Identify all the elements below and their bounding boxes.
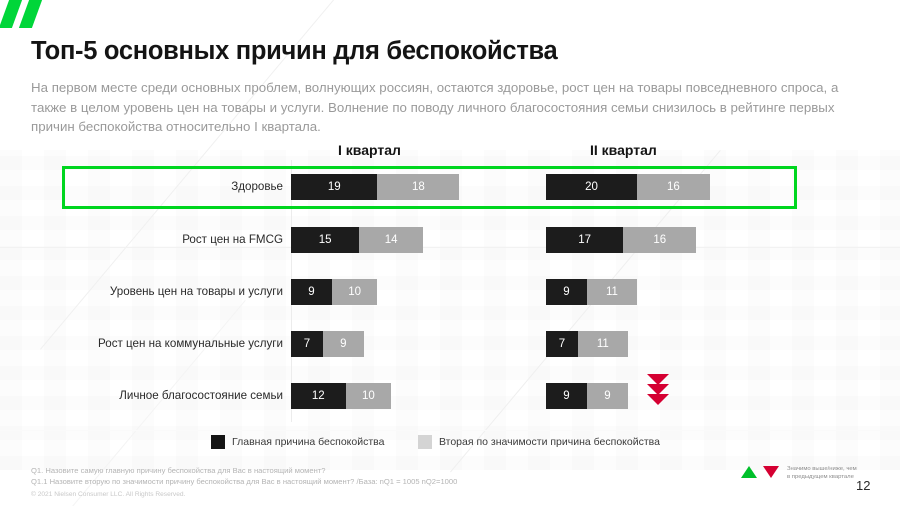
bar-group-q1: 1210 <box>291 383 391 409</box>
bar-segment-main: 9 <box>546 279 587 305</box>
bar-segment-main: 20 <box>546 174 637 200</box>
bar-segment-second: 14 <box>359 227 423 253</box>
nielseniq-logo-icon <box>0 0 52 28</box>
bar-group-q2: 911 <box>546 279 637 305</box>
page-subtitle: На первом месте среди основных проблем, … <box>31 78 876 137</box>
logo-bar-left <box>0 0 22 28</box>
bar-group-q1: 79 <box>291 331 364 357</box>
row-label: Рост цен на коммунальные услуги <box>33 331 283 357</box>
bar-group-q1: 1918 <box>291 174 459 200</box>
arrow-down-icon-3 <box>647 394 669 405</box>
significance-key-label: Значимо выше/ниже, чем в предыдущем квар… <box>787 466 859 481</box>
background-rule-2 <box>0 430 900 431</box>
page-title: Топ-5 основных причин для беспокойства <box>31 37 557 66</box>
chart-row: Рост цен на коммунальные услуги79711 <box>0 331 900 357</box>
bar-segment-second: 16 <box>623 227 696 253</box>
bar-segment-main: 7 <box>546 331 578 357</box>
bar-group-q2: 2016 <box>546 174 710 200</box>
bar-segment-second: 10 <box>346 383 392 409</box>
legend-label-second: Вторая по значимости причина беспокойств… <box>439 436 660 448</box>
footnote-q11: Q1.1 Назовите вторую по значимости причи… <box>31 477 457 488</box>
row-label: Личное благосостояние семьи <box>33 383 283 409</box>
footnote: Q1. Назовите самую главную причину беспо… <box>31 466 457 487</box>
bar-segment-second: 10 <box>332 279 378 305</box>
chart-row: Рост цен на FMCG15141716 <box>0 227 900 253</box>
triangle-down-icon <box>763 466 779 478</box>
chart-row: Личное благосостояние семьи121099 <box>0 383 900 409</box>
bar-segment-main: 17 <box>546 227 623 253</box>
column-header-q1: I квартал <box>338 142 401 158</box>
bar-segment-second: 9 <box>587 383 628 409</box>
bar-segment-main: 9 <box>291 279 332 305</box>
bar-group-q1: 1514 <box>291 227 423 253</box>
legend-item-main: Главная причина беспокойства <box>211 435 384 449</box>
chart-row: Здоровье19182016 <box>0 174 900 200</box>
legend-swatch-main <box>211 435 225 449</box>
bar-group-q2: 99 <box>546 383 628 409</box>
bar-group-q1: 910 <box>291 279 377 305</box>
bar-segment-second: 16 <box>637 174 710 200</box>
triangle-up-icon <box>741 466 757 478</box>
column-header-q2: II квартал <box>590 142 657 158</box>
bar-segment-second: 9 <box>323 331 364 357</box>
footnote-q1: Q1. Назовите самую главную причину беспо… <box>31 466 457 477</box>
bar-segment-main: 7 <box>291 331 323 357</box>
significance-arrows-down <box>645 374 671 416</box>
row-label: Уровень цен на товары и услуги <box>33 279 283 305</box>
bar-group-q2: 711 <box>546 331 628 357</box>
row-label: Рост цен на FMCG <box>33 227 283 253</box>
logo-bar-right <box>19 0 42 28</box>
bar-segment-second: 11 <box>587 279 637 305</box>
bar-segment-second: 11 <box>578 331 628 357</box>
bar-group-q2: 1716 <box>546 227 696 253</box>
legend-item-second: Вторая по значимости причина беспокойств… <box>418 435 660 449</box>
bar-segment-main: 15 <box>291 227 359 253</box>
chart-legend: Главная причина беспокойства Вторая по з… <box>0 435 900 451</box>
bar-segment-main: 19 <box>291 174 377 200</box>
row-label: Здоровье <box>33 174 283 200</box>
bar-segment-second: 18 <box>377 174 459 200</box>
chart-row: Уровень цен на товары и услуги910911 <box>0 279 900 305</box>
bar-segment-main: 12 <box>291 383 346 409</box>
legend-label-main: Главная причина беспокойства <box>232 436 384 448</box>
copyright: © 2021 Nielsen Consumer LLC. All Rights … <box>31 491 185 498</box>
page-number: 12 <box>856 478 870 493</box>
bar-segment-main: 9 <box>546 383 587 409</box>
legend-swatch-second <box>418 435 432 449</box>
slide-canvas: Топ-5 основных причин для беспокойства Н… <box>0 0 900 506</box>
significance-key: Значимо выше/ниже, чем в предыдущем квар… <box>741 466 859 481</box>
